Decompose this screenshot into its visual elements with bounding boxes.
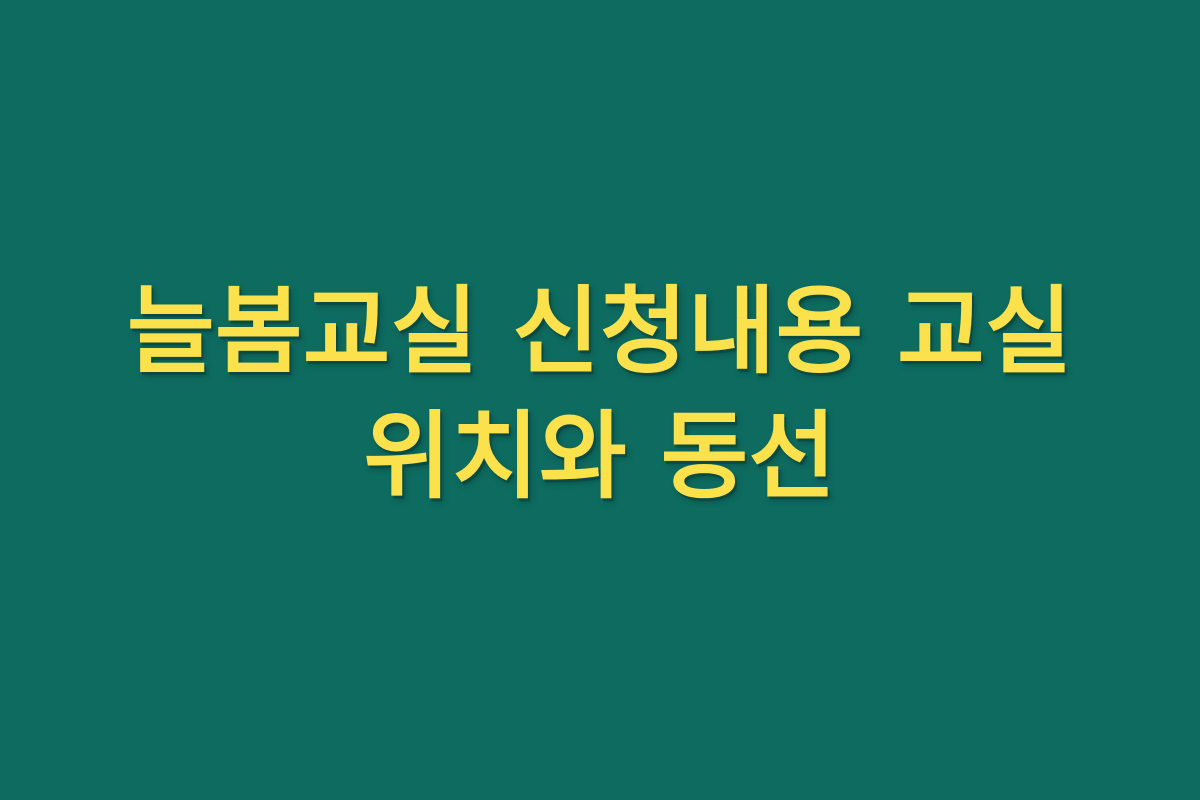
headline-block: 늘봄교실 신청내용 교실 위치와 동선 bbox=[0, 270, 1200, 521]
headline-line-1: 늘봄교실 신청내용 교실 bbox=[127, 270, 1073, 395]
headline-line-2: 위치와 동선 bbox=[364, 395, 837, 520]
title-banner: 늘봄교실 신청내용 교실 위치와 동선 bbox=[0, 0, 1200, 800]
